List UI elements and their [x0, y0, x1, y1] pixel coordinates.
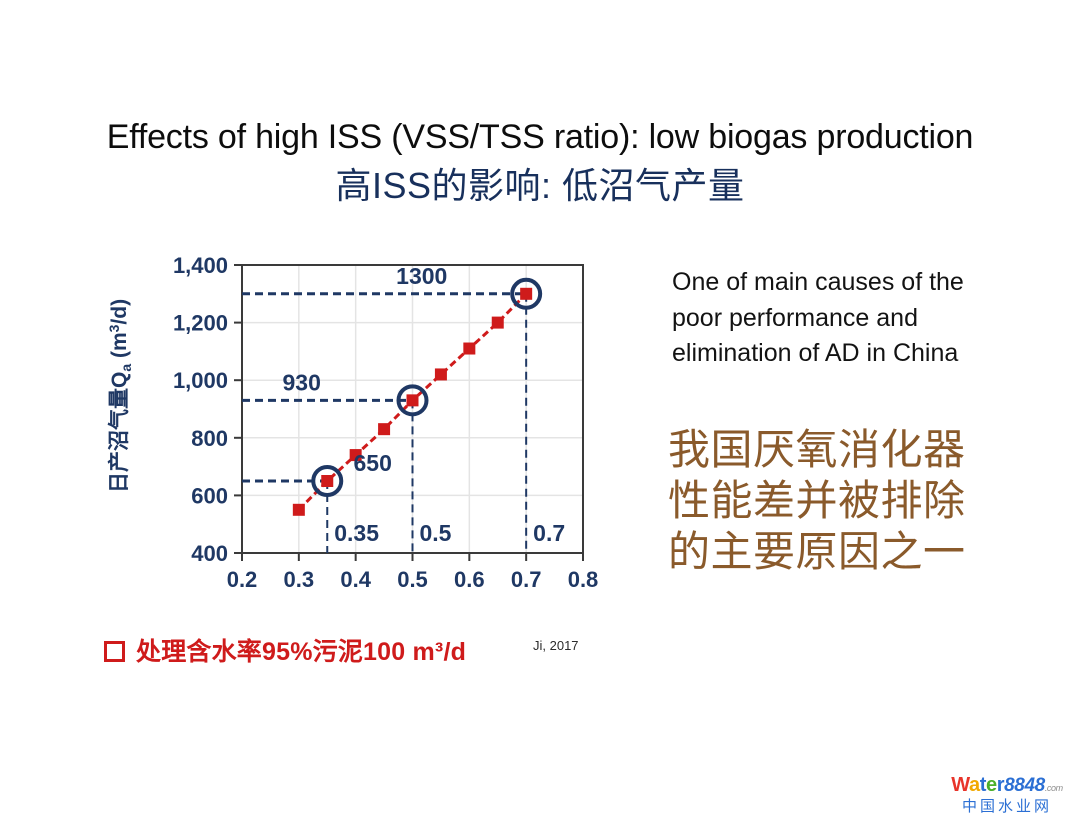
svg-text:800: 800: [191, 426, 228, 451]
svg-text:1,200: 1,200: [173, 311, 228, 336]
logo-number: 8848: [1004, 775, 1045, 796]
svg-text:0.4: 0.4: [340, 567, 371, 592]
svg-text:400: 400: [191, 541, 228, 566]
svg-text:0.2: 0.2: [227, 567, 258, 592]
logo-letter-e: e: [986, 774, 997, 796]
svg-text:1300: 1300: [396, 263, 447, 289]
svg-text:0.7: 0.7: [511, 567, 542, 592]
chart-legend: 处理含水率95%污泥100 m³/d: [104, 632, 466, 668]
logo-wordmark: Water8848.com: [946, 775, 1068, 795]
x-axis-ticks: [242, 553, 583, 561]
logo-tld: .com: [1045, 783, 1063, 793]
svg-text:600: 600: [191, 483, 228, 508]
svg-text:0.5: 0.5: [420, 520, 452, 546]
chart-svg: 4006008001,0001,2001,400 0.20.30.40.50.6…: [100, 243, 620, 603]
y-axis-ticks: [234, 265, 242, 553]
notes-chinese: 我国厌氧消化器性能差并被排除的主要原因之一: [668, 424, 968, 578]
hollow-square-icon: [104, 641, 125, 662]
logo-letter-w: W: [951, 774, 969, 796]
logo-letter-a: a: [969, 774, 980, 796]
svg-text:1,400: 1,400: [173, 253, 228, 278]
svg-text:1,000: 1,000: [173, 368, 228, 393]
y-axis-tick-labels: 4006008001,0001,2001,400: [173, 253, 228, 566]
chart-legend-label: 处理含水率95%污泥100 m³/d: [136, 632, 466, 668]
svg-text:0.7: 0.7: [533, 520, 565, 546]
slide-title-block: Effects of high ISS (VSS/TSS ratio): low…: [0, 118, 1080, 206]
svg-text:0.8: 0.8: [568, 567, 599, 592]
source-credit: Ji, 2017: [533, 638, 579, 653]
watermark-logo: Water8848.com 中国水业网: [946, 775, 1068, 814]
y-axis-title: 日产沼气量Qa (m3/d): [106, 299, 134, 493]
slide-title-chinese: 高ISS的影响: 低沼气产量: [0, 165, 1080, 206]
svg-text:0.3: 0.3: [284, 567, 315, 592]
x-axis-tick-labels: 0.20.30.40.50.60.70.8: [227, 567, 599, 592]
notes-english: One of main causes of the poor performan…: [672, 265, 972, 372]
biogas-production-chart: 4006008001,0001,2001,400 0.20.30.40.50.6…: [100, 243, 620, 603]
svg-text:0.35: 0.35: [334, 520, 379, 546]
svg-text:0.5: 0.5: [397, 567, 428, 592]
svg-text:930: 930: [283, 369, 321, 395]
svg-text:日产沼气量Qa (m3/d): 日产沼气量Qa (m3/d): [106, 299, 134, 493]
svg-text:0.6: 0.6: [454, 567, 485, 592]
slide-title-english: Effects of high ISS (VSS/TSS ratio): low…: [0, 118, 1080, 157]
logo-subtitle: 中国水业网: [946, 799, 1068, 814]
svg-text:650: 650: [354, 450, 392, 476]
